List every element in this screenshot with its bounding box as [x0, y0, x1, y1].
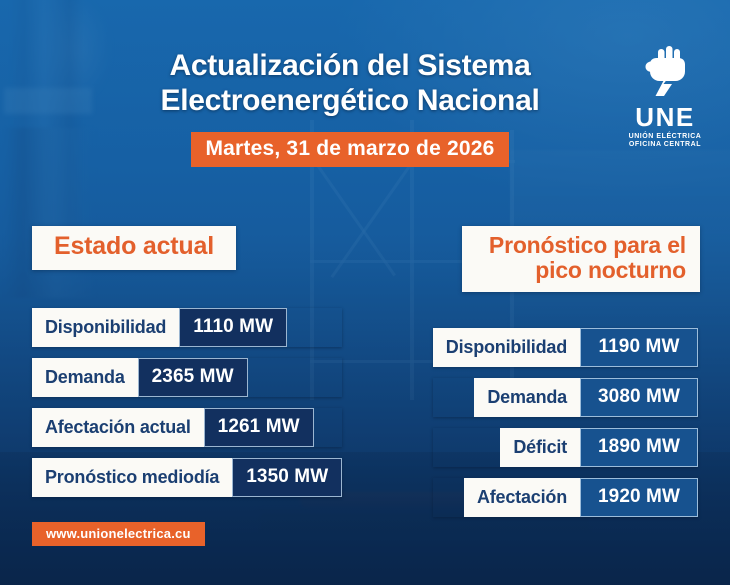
table-row: Demanda 3080 MW — [433, 378, 698, 417]
une-logo: UNE UNIÓN ELÉCTRICA OFICINA CENTRAL — [622, 44, 708, 148]
table-row: Pronóstico mediodía 1350 MW — [32, 458, 342, 497]
metric-value: 1350 MW — [232, 458, 342, 497]
section-header-estado-actual: Estado actual — [32, 226, 236, 270]
website-url[interactable]: www.unionelectrica.cu — [32, 522, 205, 546]
metric-value: 2365 MW — [138, 358, 248, 397]
table-row: Afectación 1920 MW — [433, 478, 698, 517]
metrics-column-right: Disponibilidad 1190 MW Demanda 3080 MW D… — [433, 328, 698, 528]
table-row: Demanda 2365 MW — [32, 358, 342, 397]
metric-value: 1261 MW — [204, 408, 314, 447]
metric-value: 1890 MW — [580, 428, 698, 467]
metric-value: 1920 MW — [580, 478, 698, 517]
metric-label: Disponibilidad — [32, 308, 179, 347]
metric-value: 1190 MW — [580, 328, 698, 367]
metrics-column-left: Disponibilidad 1110 MW Demanda 2365 MW A… — [32, 308, 342, 508]
section-header-right-label: Pronóstico para el pico nocturno — [476, 233, 686, 283]
table-row: Disponibilidad 1110 MW — [32, 308, 342, 347]
metric-label: Afectación — [464, 478, 580, 517]
metric-label: Demanda — [32, 358, 138, 397]
logo-subtitle-2: OFICINA CENTRAL — [622, 141, 708, 148]
poster: Actualización del Sistema Electroenergét… — [0, 0, 730, 585]
table-row: Afectación actual 1261 MW — [32, 408, 342, 447]
metric-label: Disponibilidad — [433, 328, 580, 367]
table-row: Disponibilidad 1190 MW — [433, 328, 698, 367]
metric-value: 3080 MW — [580, 378, 698, 417]
fist-lightning-icon — [622, 44, 708, 102]
metric-label: Pronóstico mediodía — [32, 458, 232, 497]
page-title-line1: Actualización del Sistema — [90, 48, 610, 83]
metric-label: Afectación actual — [32, 408, 204, 447]
logo-subtitle-1: UNIÓN ELÉCTRICA — [622, 133, 708, 140]
section-header-left-label: Estado actual — [54, 232, 214, 260]
metric-label: Déficit — [500, 428, 580, 467]
metric-value: 1110 MW — [179, 308, 287, 347]
logo-wordmark: UNE — [622, 104, 708, 130]
title-block: Actualización del Sistema Electroenergét… — [90, 48, 610, 167]
section-header-pronostico-pico-nocturno: Pronóstico para el pico nocturno — [462, 226, 700, 292]
table-row: Déficit 1890 MW — [433, 428, 698, 467]
date-badge: Martes, 31 de marzo de 2026 — [191, 132, 508, 167]
metric-label: Demanda — [474, 378, 580, 417]
page-title-line2: Electroenergético Nacional — [90, 83, 610, 118]
